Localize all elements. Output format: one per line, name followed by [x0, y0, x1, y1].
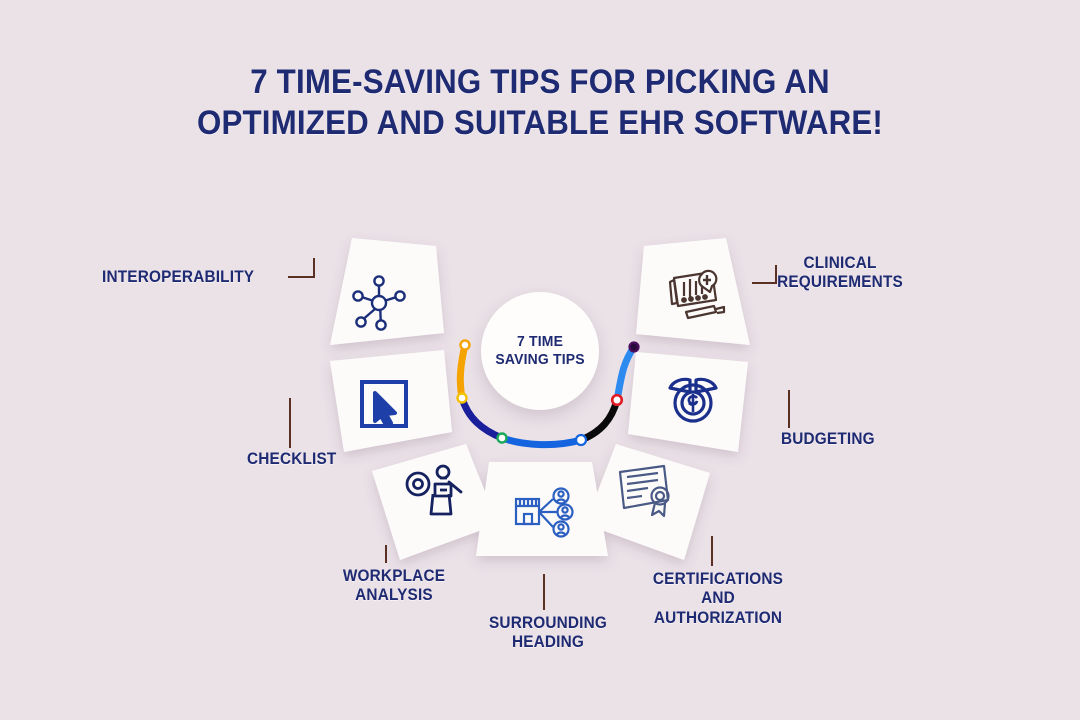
certificate-seal-icon	[614, 462, 676, 523]
label-budgeting[interactable]: BUDGETING	[781, 430, 875, 449]
label-interoperability[interactable]: INTEROPERABILITY	[102, 268, 254, 287]
person-analysis-icon	[405, 462, 465, 525]
label-surrounding-heading[interactable]: SURROUNDING HEADING	[483, 614, 613, 653]
marker-red	[612, 395, 622, 405]
marker-green	[498, 434, 507, 443]
marker-orange-top	[461, 341, 470, 350]
center-hub[interactable]: 7 TIME SAVING TIPS	[481, 292, 599, 410]
label-certifications-and-authorization[interactable]: CERTIFICATIONS AND AUTHORIZATION	[645, 570, 790, 628]
arc-blue-segment	[502, 438, 581, 445]
arc-orange-segment	[460, 345, 465, 398]
hub-label: 7 TIME SAVING TIPS	[495, 333, 584, 368]
hub-line-2: SAVING TIPS	[495, 351, 584, 368]
label-workplace-analysis[interactable]: WORKPLACE ANALYSIS	[334, 567, 453, 606]
checkbox-cursor-icon	[355, 375, 413, 438]
arc-navy-segment	[462, 398, 502, 438]
marker-white-center	[576, 435, 586, 445]
network-nodes-icon	[348, 272, 410, 339]
hub-line-1: 7 TIME	[517, 333, 563, 350]
connector-interoperability	[288, 258, 314, 277]
label-checklist[interactable]: CHECKLIST	[247, 450, 336, 469]
marker-yellow	[458, 394, 467, 403]
arc-lightblue-segment	[617, 347, 634, 400]
marker-purple-top	[630, 343, 639, 352]
arc-black-segment	[581, 400, 617, 440]
building-users-icon	[513, 487, 575, 544]
medical-clipboard-icon	[666, 266, 730, 329]
pie-dollar-icon	[664, 370, 722, 433]
infographic-canvas: 7 TIME-SAVING TIPS FOR PICKING AN OPTIMI…	[0, 0, 1080, 720]
label-clinical-requirements[interactable]: CLINICAL REQUIREMENTS	[766, 254, 915, 293]
